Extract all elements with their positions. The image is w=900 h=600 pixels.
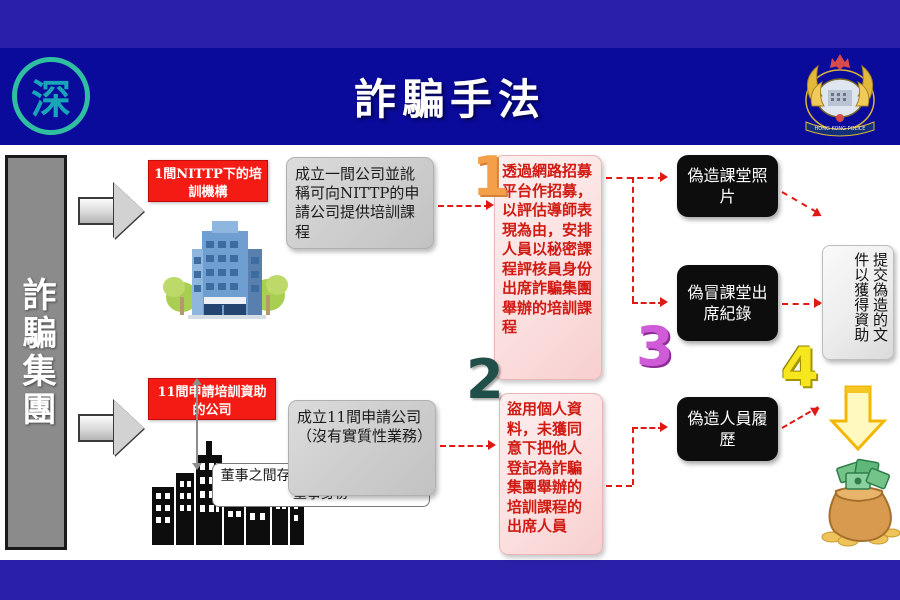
node-setup-one-company: 成立一間公司並訛稱可向NITTP的申請公司提供培訓課程 [286,157,434,249]
connector-arrowhead [660,422,668,432]
node-recruit-platform: 透過網路招募平台作招募，以評估導師表現為由，安排人員以秘密課程評核員身份出席詐騙… [494,155,602,380]
gray-arrow-bottom-icon [78,400,144,456]
connector-vertical-lower [632,427,634,485]
diagram-canvas: 詐騙集團 1間NITTP下的培訓機構 11間申請培訓資助的公司 [0,145,900,560]
yellow-down-arrow-icon [828,385,888,451]
node-steal-personal-data: 盜用個人資料，未獲同意下把他人登記為詐騙集團舉辦的培訓課程的出席人員 [499,393,603,555]
arrow-shaft [78,414,118,442]
connector-photos-to-outcome [782,191,818,213]
connector-arrowhead [660,297,668,307]
connector-setup11-to-step2 [440,445,492,447]
node-submit-fake-docs: 提交偽造的文件以獲得資助 [822,245,894,360]
svg-text:HONG KONG POLICE: HONG KONG POLICE [815,126,866,132]
step-number-2: 2 [466,353,504,407]
fraud-group-bar: 詐騙集團 [5,155,67,550]
connector-vertical-left [632,177,634,302]
connector-arrowhead [660,172,668,182]
connector-arrowhead [488,440,496,450]
node-setup-eleven-companies: 成立11間申請公司（沒有實質性業務） [288,400,436,496]
arrow-shaft [78,197,118,225]
step-number-4: 4 [781,341,819,395]
connector-step1-to-photos [606,177,664,179]
node-nittp-institution: 1間NITTP下的培訓機構 [148,160,268,202]
connector-step2-branch [606,485,632,487]
fraud-group-label: 詐騙集團 [17,277,55,429]
node-fake-attendance-records: 偽冒課堂出席紀錄 [677,265,778,341]
node-applicant-companies: 11間申請培訓資助的公司 [148,378,276,420]
node-fake-staff-resumes: 偽造人員履歷 [677,397,778,461]
page-title: 詐騙手法 [0,66,900,127]
node-fake-class-photos: 偽造課堂照片 [677,155,778,217]
hong-kong-police-badge: HONG KONG POLICE [792,50,888,142]
step-number-1: 1 [472,150,510,204]
gray-arrow-top-icon [78,183,144,239]
connector-arrowhead [814,298,822,308]
arrow-head [114,183,144,239]
money-bag-illustration [812,445,900,547]
connector-arrowhead [810,404,822,417]
arrow-head [114,400,144,456]
slide-root: 深 詐騙手法 HONG KONG POLICE [0,0,900,600]
office-building-illustration [150,215,300,325]
relation-double-arrow-icon [196,385,198,463]
step-number-3: 3 [636,320,674,374]
